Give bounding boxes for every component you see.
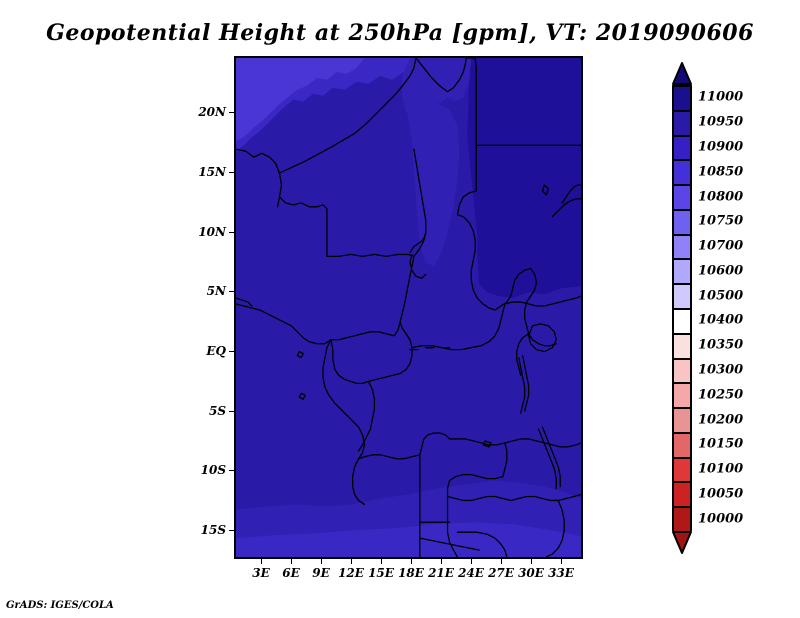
- lon-label-30e: 30E: [518, 566, 544, 580]
- lon-label-15e: 15E: [368, 566, 394, 580]
- colorbar-tick-label: 10150: [698, 437, 743, 452]
- colorbar-segment[interactable]: [674, 434, 690, 459]
- colorbar-tick-label: 10850: [698, 164, 743, 179]
- colorbar-tick-label: 10900: [698, 139, 743, 154]
- lon-tick: [261, 559, 262, 564]
- lat-tick: [229, 351, 234, 352]
- lat-label-15n: 15N: [176, 165, 226, 179]
- colorbar-tick-label: 10300: [698, 362, 743, 377]
- lon-label-6e: 6E: [282, 566, 300, 580]
- colorbar-tick-label: 10250: [698, 387, 743, 402]
- colorbar-tick-label: 11000: [698, 90, 743, 105]
- colorbar-segment[interactable]: [674, 483, 690, 508]
- colorbar-segment[interactable]: [674, 335, 690, 360]
- colorbar-tick-label: 10700: [698, 239, 743, 254]
- lat-label-15s: 15S: [176, 523, 226, 537]
- lon-label-9e: 9E: [312, 566, 330, 580]
- colorbar-segment[interactable]: [674, 236, 690, 261]
- lat-tick: [229, 112, 234, 113]
- lat-tick: [229, 530, 234, 531]
- colorbar-segment[interactable]: [674, 360, 690, 385]
- lon-label-18e: 18E: [398, 566, 424, 580]
- lon-label-21e: 21E: [428, 566, 454, 580]
- lon-tick: [381, 559, 382, 564]
- map-canvas: [236, 58, 581, 557]
- lat-label-10n: 10N: [176, 225, 226, 239]
- colorbar-tick-label: 10800: [698, 189, 743, 204]
- colorbar-segment[interactable]: [674, 161, 690, 186]
- lon-label-27e: 27E: [488, 566, 514, 580]
- lat-tick: [229, 470, 234, 471]
- lat-label-5s: 5S: [176, 404, 226, 418]
- footer-credit: GrADS: IGES/COLA: [6, 600, 114, 611]
- lon-label-12e: 12E: [338, 566, 364, 580]
- colorbar-tick-label: 10500: [698, 288, 743, 303]
- colorbar-segments[interactable]: [672, 85, 692, 531]
- colorbar-tick-label: 10400: [698, 313, 743, 328]
- lon-tick: [531, 559, 532, 564]
- lat-tick: [229, 291, 234, 292]
- map-plot-area[interactable]: [234, 56, 583, 559]
- colorbar-segment[interactable]: [674, 310, 690, 335]
- lat-tick: [229, 172, 234, 173]
- colorbar-bottom-arrow: [672, 531, 692, 554]
- lon-tick: [471, 559, 472, 564]
- lon-tick: [411, 559, 412, 564]
- colorbar-tick-label: 10600: [698, 263, 743, 278]
- page-title: Geopotential Height at 250hPa [gpm], VT:…: [0, 20, 800, 46]
- lon-label-24e: 24E: [458, 566, 484, 580]
- colorbar-segment[interactable]: [674, 409, 690, 434]
- colorbar-segment[interactable]: [674, 285, 690, 310]
- colorbar-tick-label: 10750: [698, 214, 743, 229]
- lon-label-33e: 33E: [548, 566, 574, 580]
- colorbar-tick-label: 10100: [698, 462, 743, 477]
- lon-label-3e: 3E: [252, 566, 270, 580]
- colorbar-segment[interactable]: [674, 459, 690, 484]
- colorbar-segment[interactable]: [674, 384, 690, 409]
- colorbar-segment[interactable]: [674, 211, 690, 236]
- colorbar-tick-label: 10050: [698, 486, 743, 501]
- lon-tick: [291, 559, 292, 564]
- colorbar-segment[interactable]: [674, 186, 690, 211]
- lon-tick: [351, 559, 352, 564]
- lat-label-5n: 5N: [176, 284, 226, 298]
- lon-tick: [441, 559, 442, 564]
- colorbar-segment[interactable]: [674, 508, 690, 533]
- colorbar-segment[interactable]: [674, 260, 690, 285]
- lat-label-eq: EQ: [176, 344, 226, 358]
- colorbar-segment[interactable]: [674, 87, 690, 112]
- colorbar-top-arrow: [672, 62, 692, 85]
- colorbar-segment[interactable]: [674, 137, 690, 162]
- colorbar-tick-label: 10950: [698, 115, 743, 130]
- lat-tick: [229, 411, 234, 412]
- lon-tick: [561, 559, 562, 564]
- colorbar-tick-label: 10200: [698, 412, 743, 427]
- colorbar-tick-label: 10350: [698, 338, 743, 353]
- colorbar-segment[interactable]: [674, 112, 690, 137]
- colorbar-tick-label: 10000: [698, 511, 743, 526]
- lat-tick: [229, 232, 234, 233]
- lat-label-10s: 10S: [176, 463, 226, 477]
- lat-label-20n: 20N: [176, 105, 226, 119]
- lon-tick: [321, 559, 322, 564]
- lon-tick: [501, 559, 502, 564]
